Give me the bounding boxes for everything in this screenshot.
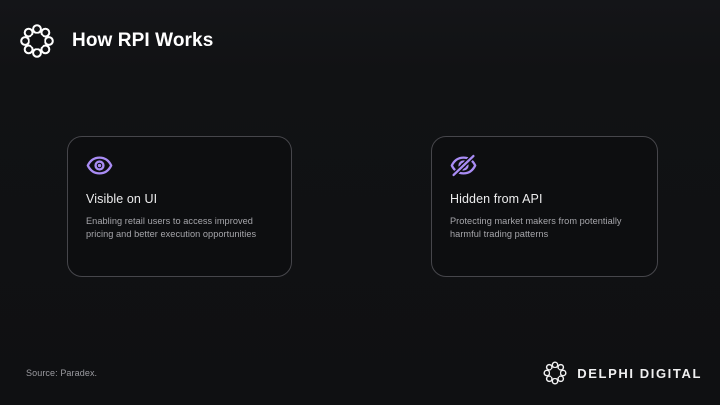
footer-brand: DELPHI DIGITAL [542, 360, 702, 386]
brand-wordmark: DELPHI DIGITAL [577, 366, 702, 381]
card-title: Visible on UI [86, 192, 273, 206]
source-caption: Source: Paradex. [26, 368, 97, 378]
card-visible-on-ui[interactable]: Visible on UI Enabling retail users to a… [67, 136, 292, 277]
slide-canvas: How RPI Works Visible on UI Enabling ret… [0, 0, 720, 405]
slide-header: How RPI Works [18, 22, 213, 60]
card-body-text: Protecting market makers from potentiall… [450, 215, 639, 241]
eye-off-icon [450, 152, 477, 179]
delphi-ring-logo-icon [542, 360, 568, 386]
delphi-ring-logo-icon [18, 22, 56, 60]
card-hidden-from-api[interactable]: Hidden from API Protecting market makers… [431, 136, 658, 277]
eye-icon [86, 152, 113, 179]
page-title: How RPI Works [72, 30, 213, 52]
card-title: Hidden from API [450, 192, 639, 206]
card-body-text: Enabling retail users to access improved… [86, 215, 266, 241]
